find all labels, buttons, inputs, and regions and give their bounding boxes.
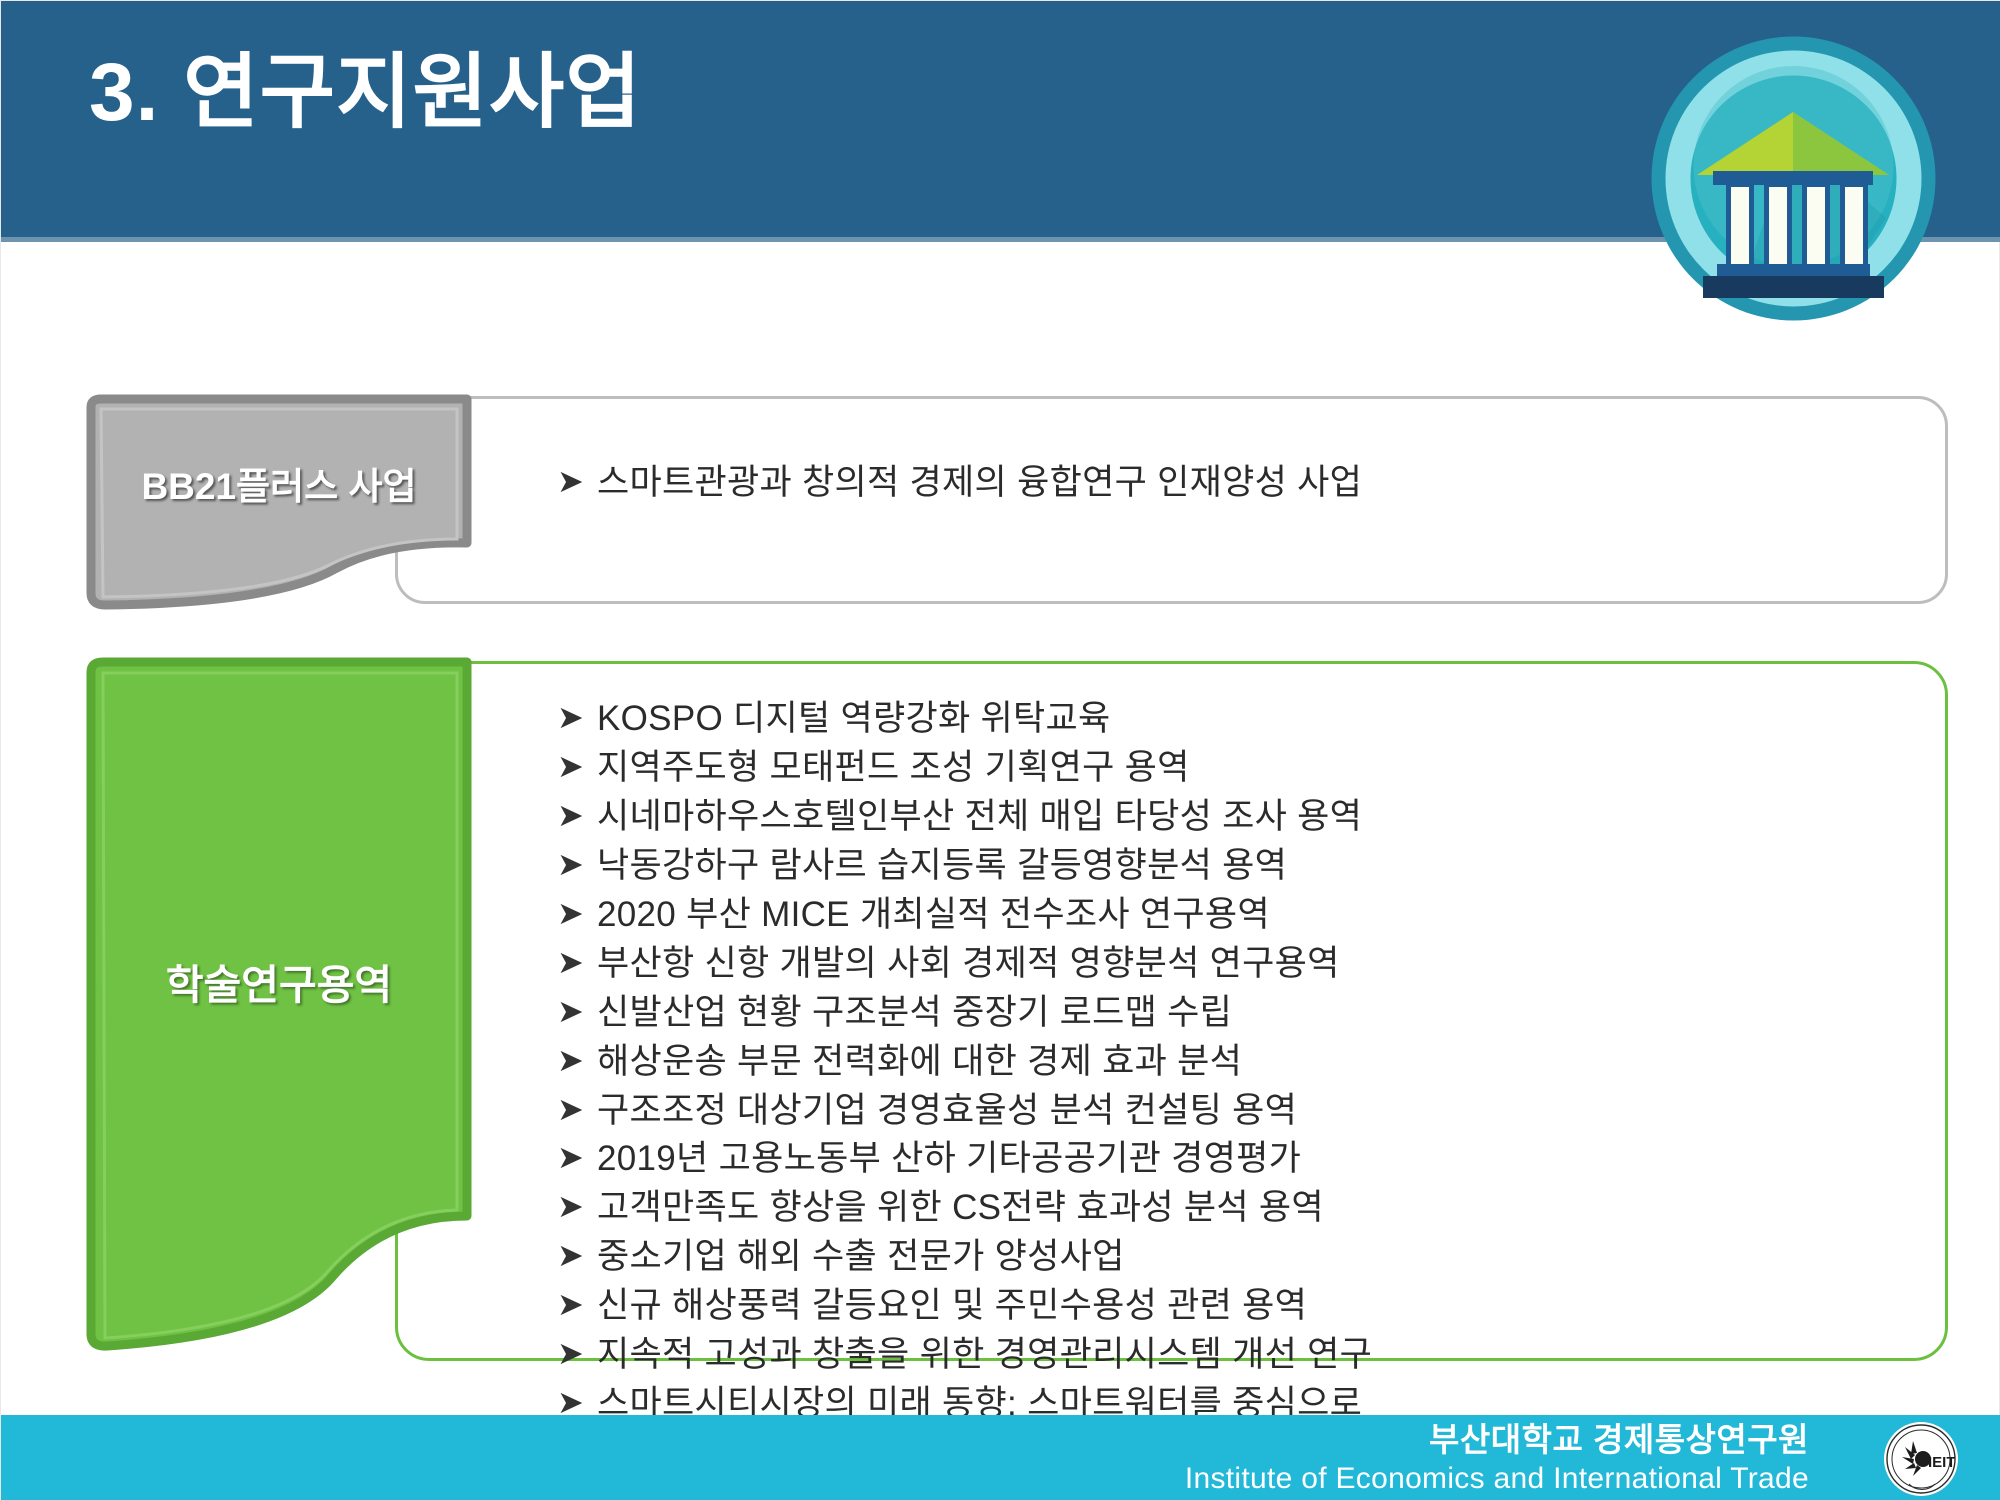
footer-org-korean: 부산대학교 경제통상연구원: [609, 1419, 1809, 1460]
slide-canvas: 3. 연구지원사업: [0, 0, 2000, 1500]
bullet-arrow-icon: ➤: [557, 1188, 597, 1226]
list-item-label: 신규 해상풍력 갈등요인 및 주민수용성 관련 용역: [597, 1286, 1917, 1327]
list-item: ➤중소기업 해외 수출 전문가 양성사업: [557, 1237, 1917, 1278]
list-item: ➤지속적 고성과 창출을 위한 경영관리시스템 개선 연구: [557, 1335, 1917, 1376]
list-item-label: 낙동강하구 람사르 습지등록 갈등영향분석 용역: [597, 846, 1917, 887]
list-item-label: 신발산업 현황 구조분석 중장기 로드맵 수립: [597, 993, 1917, 1034]
bullet-arrow-icon: ➤: [557, 463, 597, 501]
list-item: ➤시네마하우스호텔인부산 전체 매입 타당성 조사 용역: [557, 797, 1917, 838]
list-item-label: 중소기업 해외 수출 전문가 양성사업: [597, 1237, 1917, 1278]
bullet-arrow-icon: ➤: [557, 993, 597, 1031]
academic-tab-label: 학술연구용역: [85, 951, 473, 1011]
list-item: ➤2019년 고용노동부 산하 기타공공기관 경영평가: [557, 1139, 1917, 1180]
bb21-bullet-list: ➤스마트관광과 창의적 경제의 융합연구 인재양성 사업: [557, 463, 1907, 512]
list-item-label: 2020 부산 MICE 개최실적 전수조사 연구용역: [597, 895, 1917, 936]
list-item: ➤신규 해상풍력 갈등요인 및 주민수용성 관련 용역: [557, 1286, 1917, 1327]
bullet-arrow-icon: ➤: [557, 895, 597, 933]
list-item-label: 구조조정 대상기업 경영효율성 분석 컨설팅 용역: [597, 1091, 1917, 1132]
list-item-label: 스마트관광과 창의적 경제의 융합연구 인재양성 사업: [597, 463, 1907, 504]
bullet-arrow-icon: ➤: [557, 1286, 597, 1324]
svg-text:IEIT: IEIT: [1928, 1454, 1956, 1471]
bullet-arrow-icon: ➤: [557, 1237, 597, 1275]
bank-building-icon: [1651, 36, 1936, 321]
list-item: ➤해상운송 부문 전력화에 대한 경제 효과 분석: [557, 1042, 1917, 1083]
list-item-label: 지역주도형 모태펀드 조성 기획연구 용역: [597, 748, 1917, 789]
list-item: ➤낙동강하구 람사르 습지등록 갈등영향분석 용역: [557, 846, 1917, 887]
list-item: ➤고객만족도 향상을 위한 CS전략 효과성 분석 용역: [557, 1188, 1917, 1229]
academic-bullet-list: ➤KOSPO 디지털 역량강화 위탁교육➤지역주도형 모태펀드 조성 기획연구 …: [557, 699, 1917, 1482]
list-item: ➤2020 부산 MICE 개최실적 전수조사 연구용역: [557, 895, 1917, 936]
list-item: ➤KOSPO 디지털 역량강화 위탁교육: [557, 699, 1917, 740]
bullet-arrow-icon: ➤: [557, 1042, 597, 1080]
academic-tab-shape: [85, 656, 473, 1376]
list-item-label: 부산항 신항 개발의 사회 경제적 영향분석 연구용역: [597, 944, 1917, 985]
list-item: ➤스마트관광과 창의적 경제의 융합연구 인재양성 사업: [557, 463, 1907, 504]
page-title: 3. 연구지원사업: [89, 47, 642, 139]
list-item-label: 지속적 고성과 창출을 위한 경영관리시스템 개선 연구: [597, 1335, 1917, 1376]
ieit-emblem-icon: IEIT: [1883, 1421, 1959, 1497]
bullet-arrow-icon: ➤: [557, 748, 597, 786]
list-item-label: 고객만족도 향상을 위한 CS전략 효과성 분석 용역: [597, 1188, 1917, 1229]
bullet-arrow-icon: ➤: [557, 797, 597, 835]
list-item-label: KOSPO 디지털 역량강화 위탁교육: [597, 699, 1917, 740]
bullet-arrow-icon: ➤: [557, 1139, 597, 1177]
list-item: ➤부산항 신항 개발의 사회 경제적 영향분석 연구용역: [557, 944, 1917, 985]
list-item: ➤지역주도형 모태펀드 조성 기획연구 용역: [557, 748, 1917, 789]
bullet-arrow-icon: ➤: [557, 1091, 597, 1129]
list-item: ➤구조조정 대상기업 경영효율성 분석 컨설팅 용역: [557, 1091, 1917, 1132]
bullet-arrow-icon: ➤: [557, 944, 597, 982]
footer-org-english: Institute of Economics and International…: [609, 1460, 1809, 1498]
list-item-label: 해상운송 부문 전력화에 대한 경제 효과 분석: [597, 1042, 1917, 1083]
bb21-tab-label: BB21플러스 사업: [85, 456, 473, 510]
list-item-label: 2019년 고용노동부 산하 기타공공기관 경영평가: [597, 1139, 1917, 1180]
bullet-arrow-icon: ➤: [557, 1335, 597, 1373]
footer-org-block: 부산대학교 경제통상연구원 Institute of Economics and…: [609, 1419, 1809, 1498]
list-item-label: 시네마하우스호텔인부산 전체 매입 타당성 조사 용역: [597, 797, 1917, 838]
bullet-arrow-icon: ➤: [557, 699, 597, 737]
bullet-arrow-icon: ➤: [557, 846, 597, 884]
list-item: ➤신발산업 현황 구조분석 중장기 로드맵 수립: [557, 993, 1917, 1034]
